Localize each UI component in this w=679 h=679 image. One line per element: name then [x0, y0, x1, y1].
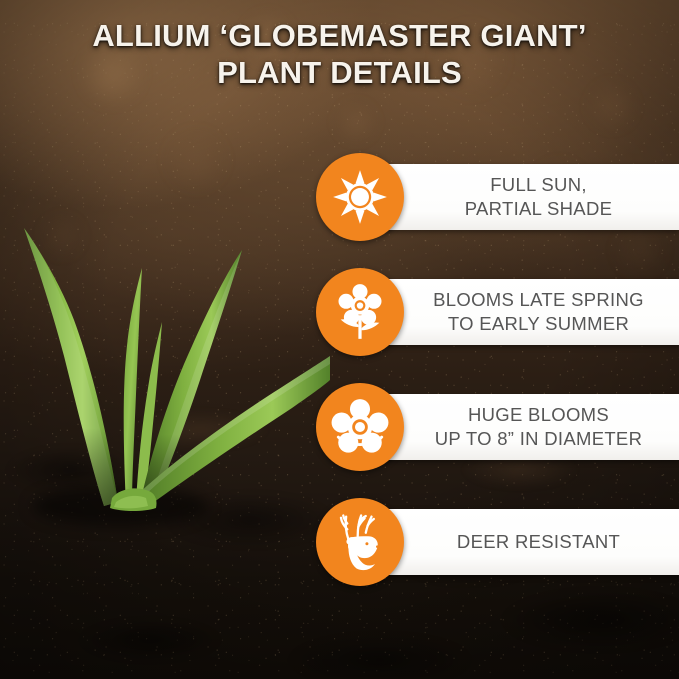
feature-icon-badge [316, 498, 404, 586]
feature-label: FULL SUN, PARTIAL SHADE [417, 173, 623, 220]
feature-label: DEER RESISTANT [409, 530, 630, 554]
feature-row: FULL SUN, PARTIAL SHADE [316, 153, 679, 241]
flower-diameter-icon [329, 398, 391, 456]
feature-list: FULL SUN, PARTIAL SHADE [0, 0, 679, 679]
feature-row: HUGE BLOOMS UP TO 8” IN DIAMETER [316, 383, 679, 471]
feature-bar: DEER RESISTANT [360, 509, 679, 575]
feature-icon-badge [316, 153, 404, 241]
feature-row: BLOOMS LATE SPRING TO EARLY SUMMER [316, 268, 679, 356]
feature-bar: FULL SUN, PARTIAL SHADE [360, 164, 679, 230]
feature-icon-badge [316, 268, 404, 356]
plant-details-infographic: ALLIUM ‘GLOBEMASTER GIANT’ PLANT DETAILS… [0, 0, 679, 679]
flower-stem-icon [333, 283, 387, 341]
feature-row: DEER RESISTANT [316, 498, 679, 586]
feature-icon-badge [316, 383, 404, 471]
sun-icon [332, 169, 388, 225]
feature-label: HUGE BLOOMS UP TO 8” IN DIAMETER [387, 403, 653, 450]
feature-label: BLOOMS LATE SPRING TO EARLY SUMMER [385, 288, 654, 335]
deer-head-icon [331, 512, 389, 572]
feature-bar: BLOOMS LATE SPRING TO EARLY SUMMER [360, 279, 679, 345]
feature-bar: HUGE BLOOMS UP TO 8” IN DIAMETER [360, 394, 679, 460]
